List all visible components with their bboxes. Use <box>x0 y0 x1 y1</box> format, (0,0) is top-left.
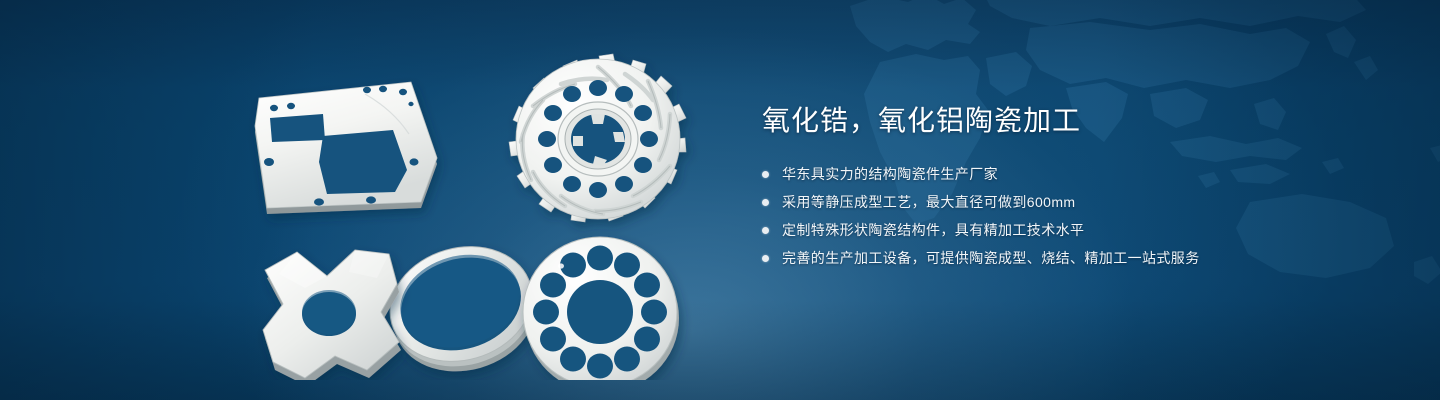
ceramic-cross-part-image <box>263 250 401 380</box>
bullet-dot-icon <box>762 255 769 262</box>
list-item: 采用等静压成型工艺，最大直径可做到600mm <box>762 192 1382 213</box>
list-item: 华东具实力的结构陶瓷件生产厂家 <box>762 164 1382 185</box>
page-title: 氧化锆，氧化铝陶瓷加工 <box>762 104 1382 138</box>
feature-text: 华东具实力的结构陶瓷件生产厂家 <box>782 164 998 185</box>
feature-list: 华东具实力的结构陶瓷件生产厂家 采用等静压成型工艺，最大直径可做到600mm 定… <box>762 164 1382 269</box>
feature-text: 完善的生产加工设备，可提供陶瓷成型、烧结、精加工一站式服务 <box>782 248 1200 269</box>
feature-text: 采用等静压成型工艺，最大直径可做到600mm <box>782 192 1075 213</box>
bullet-dot-icon <box>762 171 769 178</box>
product-images <box>215 30 735 380</box>
ceramic-impeller-image <box>509 54 686 222</box>
product-banner: 氧化锆，氧化铝陶瓷加工 华东具实力的结构陶瓷件生产厂家 采用等静压成型工艺，最大… <box>0 0 1440 400</box>
feature-text: 定制特殊形状陶瓷结构件，具有精加工技术水平 <box>782 220 1084 241</box>
banner-text-block: 氧化锆，氧化铝陶瓷加工 华东具实力的结构陶瓷件生产厂家 采用等静压成型工艺，最大… <box>762 104 1382 276</box>
ceramic-perforated-disc-image <box>523 237 679 380</box>
ceramic-plate-image <box>255 82 437 214</box>
bullet-dot-icon <box>762 199 769 206</box>
bullet-dot-icon <box>762 227 769 234</box>
list-item: 定制特殊形状陶瓷结构件，具有精加工技术水平 <box>762 220 1382 241</box>
list-item: 完善的生产加工设备，可提供陶瓷成型、烧结、精加工一站式服务 <box>762 248 1382 269</box>
